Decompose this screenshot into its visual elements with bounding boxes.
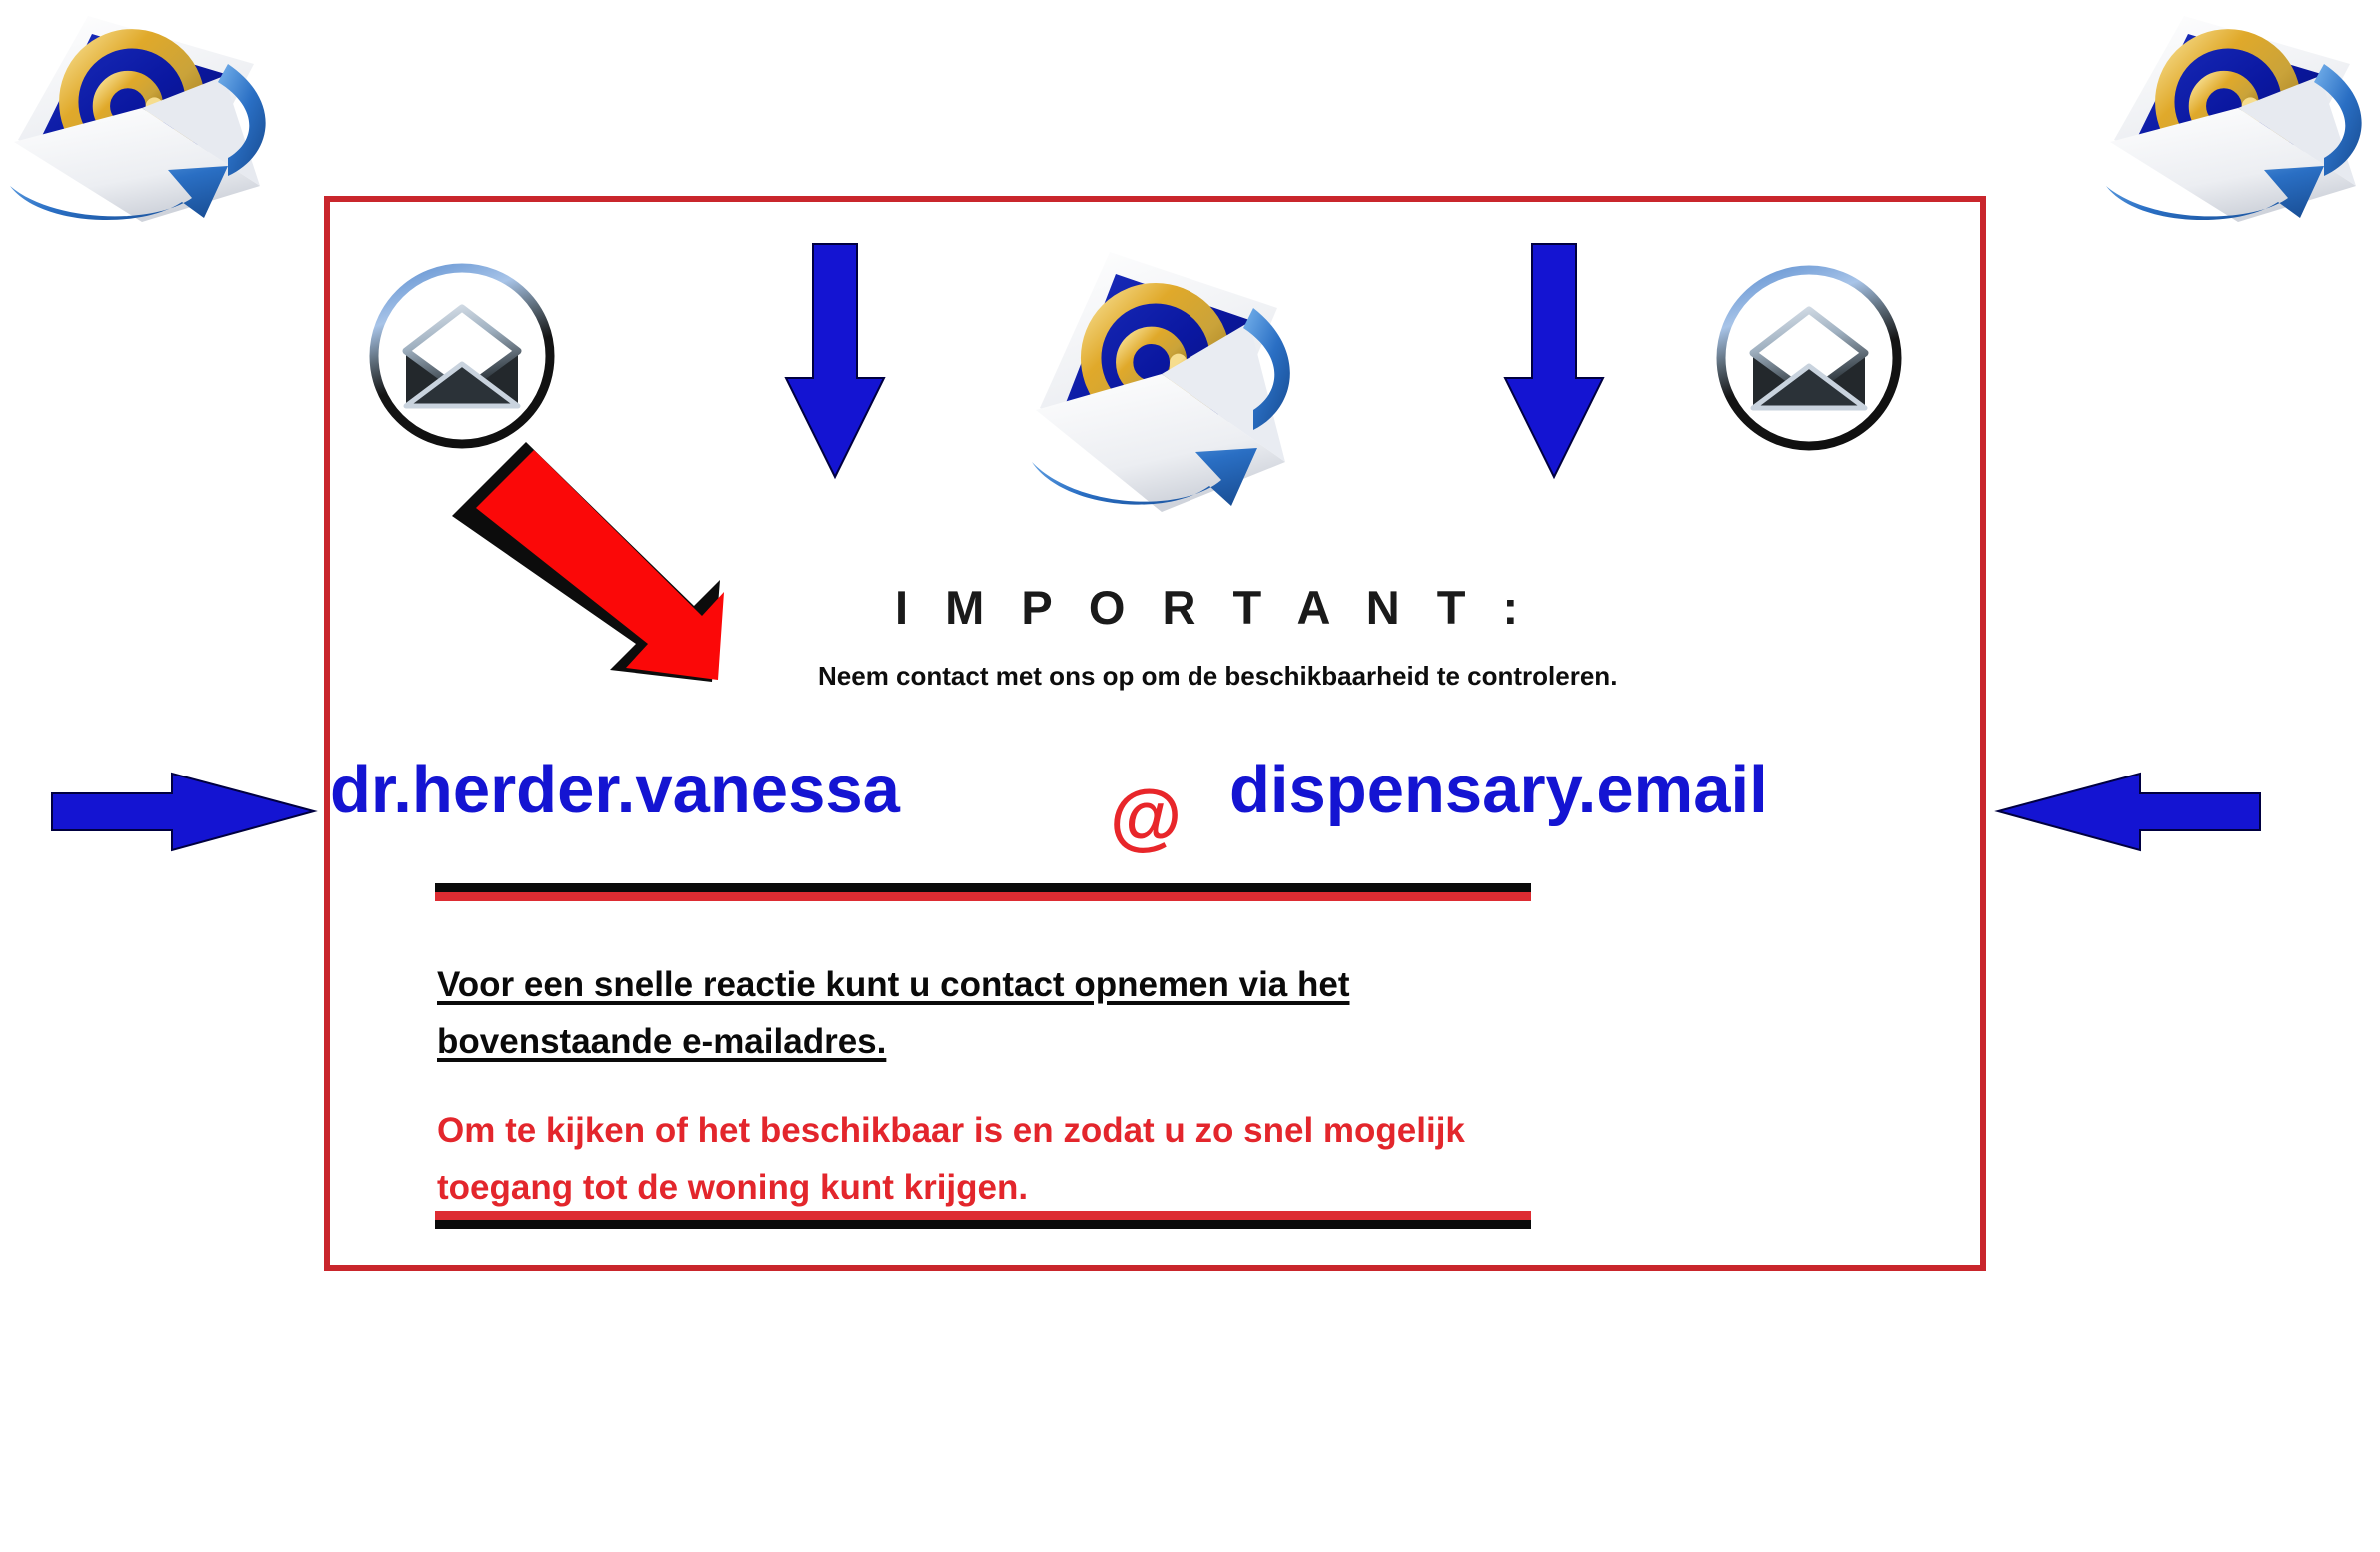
blue-left-arrow-icon [1994,760,2264,864]
black-instruction-line-2: bovenstaande e-mailadres. [437,1022,886,1061]
corner-email-graphic-right [2088,0,2380,225]
separator-bar-red [435,1211,1531,1220]
separator-bar-black [435,1220,1531,1229]
email-username[interactable]: dr.herder.vanessa [330,752,900,828]
important-heading: I M P O R T A N T : [895,580,1530,635]
corner-email-graphic-left [0,0,292,225]
red-instruction-paragraph: Om te kijken of het beschikbaar is en zo… [437,1103,1636,1216]
red-instruction-line-1: Om te kijken of het beschikbaar is en zo… [437,1111,1465,1150]
blue-down-arrow-icon-left [780,238,890,483]
center-email-graphic [1010,212,1309,542]
red-instruction-line-2: toegang tot de woning kunt krijgen. [437,1168,1028,1207]
email-domain[interactable]: dispensary.email [1229,752,1768,828]
separator-bar-red [435,892,1531,901]
email-address-row: dr.herder.vanessa @ dispensary.email [330,752,1979,861]
red-diagonal-arrow-icon [440,430,750,690]
blue-right-arrow-icon [48,760,318,864]
blue-down-arrow-icon-right [1499,238,1609,483]
subtitle-text: Neem contact met ons op om de beschikbaa… [818,658,1627,696]
envelope-circle-icon-left [362,256,562,456]
email-at-symbol: @ [1110,774,1182,858]
envelope-circle-icon-right [1709,258,1909,458]
separator-bar-black [435,883,1531,892]
separator-top [435,883,1531,901]
black-instruction-paragraph: Voor een snelle reactie kunt u contact o… [437,957,1566,1070]
black-instruction-line-1: Voor een snelle reactie kunt u contact o… [437,965,1350,1004]
poster-canvas: I M P O R T A N T : Neem contact met ons… [0,0,2380,1552]
separator-bottom [435,1211,1531,1229]
